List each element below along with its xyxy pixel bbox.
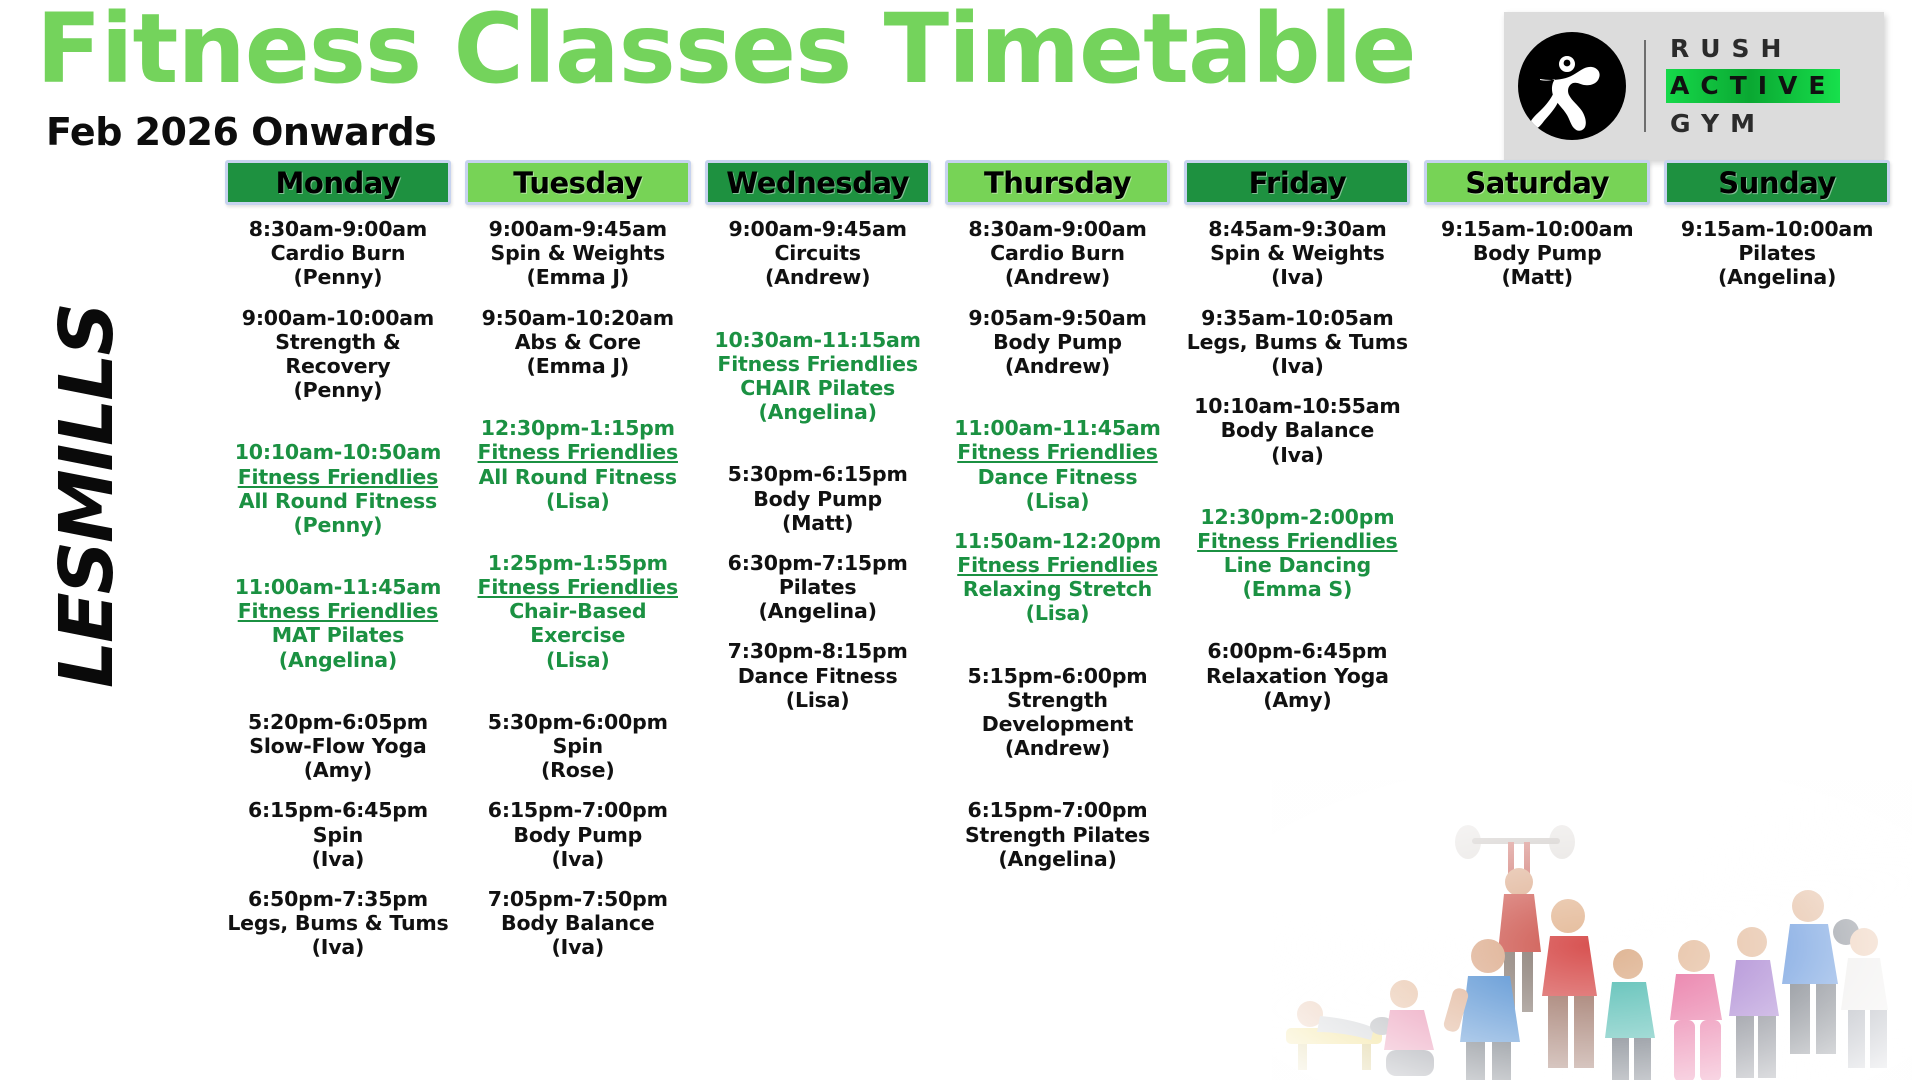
class-name: Body Balance <box>1184 418 1410 442</box>
class-slot[interactable]: 6:50pm-7:35pmLegs, Bums & Tums(Iva) <box>225 887 451 960</box>
class-slot[interactable]: 7:05pm-7:50pmBody Balance(Iva) <box>465 887 691 960</box>
fitness-friendlies-label: Fitness Friendlies <box>945 440 1171 464</box>
class-name: Spin & Weights <box>465 241 691 265</box>
lesmills-brand-logo: LESMILLS <box>44 358 130 688</box>
fitness-friendlies-label: Fitness Friendlies <box>945 553 1171 577</box>
day-column-thursday: Thursday8:30am-9:00amCardio Burn(Andrew)… <box>945 160 1171 976</box>
class-slot[interactable]: 5:20pm-6:05pmSlow-Flow Yoga(Amy) <box>225 710 451 783</box>
class-slot[interactable]: 9:00am-9:45amSpin & Weights(Emma J) <box>465 217 691 290</box>
day-column-monday: Monday8:30am-9:00amCardio Burn(Penny)9:0… <box>225 160 451 976</box>
class-time: 5:20pm-6:05pm <box>225 710 451 734</box>
class-name: Body Pump <box>705 487 931 511</box>
fitness-friendlies-label: Fitness Friendlies <box>225 465 451 489</box>
class-time: 11:00am-11:45am <box>945 416 1171 440</box>
class-instructor: (Emma S) <box>1184 577 1410 601</box>
class-slot[interactable]: 7:30pm-8:15pmDance Fitness(Lisa) <box>705 639 931 712</box>
class-name: Cardio Burn <box>945 241 1171 265</box>
class-time: 8:30am-9:00am <box>225 217 451 241</box>
class-time: 12:30pm-2:00pm <box>1184 505 1410 529</box>
class-name: Body Pump <box>1424 241 1650 265</box>
class-slot[interactable]: 11:00am-11:45amFitness FriendliesDance F… <box>945 416 1171 513</box>
class-instructor: (Andrew) <box>945 736 1171 760</box>
class-slot[interactable]: 1:25pm-1:55pmFitness FriendliesChair-Bas… <box>465 551 691 672</box>
class-slot[interactable]: 9:35am-10:05amLegs, Bums & Tums(Iva) <box>1184 306 1410 379</box>
class-name: Chair-Based Exercise <box>465 599 691 647</box>
class-instructor: (Penny) <box>225 378 451 402</box>
class-name: Body Pump <box>945 330 1171 354</box>
class-slot[interactable]: 8:45am-9:30amSpin & Weights(Iva) <box>1184 217 1410 290</box>
class-name: Dance Fitness <box>945 465 1171 489</box>
class-name: Spin <box>465 734 691 758</box>
class-slot[interactable]: 5:30pm-6:00pmSpin(Rose) <box>465 710 691 783</box>
class-instructor: (Iva) <box>1184 443 1410 467</box>
class-time: 10:30am-11:15am <box>705 328 931 352</box>
class-instructor: (Lisa) <box>465 648 691 672</box>
day-header-tuesday[interactable]: Tuesday <box>465 160 691 205</box>
fitness-friendlies-label: Fitness Friendlies <box>225 599 451 623</box>
class-time: 6:15pm-6:45pm <box>225 798 451 822</box>
class-slot[interactable]: 6:00pm-6:45pmRelaxation Yoga(Amy) <box>1184 639 1410 712</box>
class-slot[interactable]: 12:30pm-1:15pmFitness FriendliesAll Roun… <box>465 416 691 513</box>
class-instructor: (Andrew) <box>705 265 931 289</box>
class-time: 11:50am-12:20pm <box>945 529 1171 553</box>
class-slot[interactable]: 11:00am-11:45amFitness FriendliesMAT Pil… <box>225 575 451 672</box>
class-time: 9:15am-10:00am <box>1664 217 1890 241</box>
class-name: MAT Pilates <box>225 623 451 647</box>
page-title: Fitness Classes Timetable <box>36 0 1416 104</box>
class-instructor: (Angelina) <box>705 599 931 623</box>
logo-line-rush: RUSH <box>1666 32 1840 65</box>
fitness-friendlies-label: Fitness Friendlies <box>705 352 931 376</box>
class-instructor: (Matt) <box>705 511 931 535</box>
day-column-tuesday: Tuesday9:00am-9:45amSpin & Weights(Emma … <box>465 160 691 976</box>
class-time: 9:35am-10:05am <box>1184 306 1410 330</box>
class-time: 11:00am-11:45am <box>225 575 451 599</box>
class-instructor: (Emma J) <box>465 265 691 289</box>
class-name: Pilates <box>1664 241 1890 265</box>
day-header-monday[interactable]: Monday <box>225 160 451 205</box>
class-slot[interactable]: 8:30am-9:00amCardio Burn(Penny) <box>225 217 451 290</box>
day-header-wednesday[interactable]: Wednesday <box>705 160 931 205</box>
class-name: Body Pump <box>465 823 691 847</box>
class-instructor: (Iva) <box>465 847 691 871</box>
day-header-sunday[interactable]: Sunday <box>1664 160 1890 205</box>
class-time: 8:45am-9:30am <box>1184 217 1410 241</box>
class-instructor: (Matt) <box>1424 265 1650 289</box>
class-slot[interactable]: 10:30am-11:15amFitness FriendliesCHAIR P… <box>705 328 931 425</box>
class-time: 12:30pm-1:15pm <box>465 416 691 440</box>
class-instructor: (Andrew) <box>945 265 1171 289</box>
class-time: 5:30pm-6:00pm <box>465 710 691 734</box>
class-name: Pilates <box>705 575 931 599</box>
logo-line-gym: GYM <box>1666 107 1840 140</box>
class-name: All Round Fitness <box>465 465 691 489</box>
class-slot[interactable]: 12:30pm-2:00pmFitness FriendliesLine Dan… <box>1184 505 1410 602</box>
class-slot[interactable]: 10:10am-10:55amBody Balance(Iva) <box>1184 394 1410 467</box>
class-time: 9:15am-10:00am <box>1424 217 1650 241</box>
class-name: Spin <box>225 823 451 847</box>
class-name: Spin & Weights <box>1184 241 1410 265</box>
class-slot[interactable]: 8:30am-9:00amCardio Burn(Andrew) <box>945 217 1171 290</box>
class-instructor: (Andrew) <box>945 354 1171 378</box>
class-instructor: (Penny) <box>225 265 451 289</box>
class-name: Relaxation Yoga <box>1184 664 1410 688</box>
day-column-wednesday: Wednesday9:00am-9:45amCircuits(Andrew)10… <box>705 160 931 976</box>
class-time: 9:00am-9:45am <box>705 217 931 241</box>
class-name: Slow-Flow Yoga <box>225 734 451 758</box>
class-slot[interactable]: 9:50am-10:20amAbs & Core(Emma J) <box>465 306 691 379</box>
class-slot[interactable]: 6:15pm-7:00pmStrength Pilates(Angelina) <box>945 798 1171 871</box>
class-instructor: (Lisa) <box>705 688 931 712</box>
class-instructor: (Iva) <box>225 935 451 959</box>
class-name: Legs, Bums & Tums <box>225 911 451 935</box>
class-time: 5:30pm-6:15pm <box>705 462 931 486</box>
class-name: CHAIR Pilates <box>705 376 931 400</box>
class-name: Strength Development <box>945 688 1171 736</box>
class-time: 6:15pm-7:00pm <box>465 798 691 822</box>
class-slot[interactable]: 9:00am-10:00amStrength & Recovery(Penny) <box>225 306 451 403</box>
class-name: Cardio Burn <box>225 241 451 265</box>
class-instructor: (Penny) <box>225 513 451 537</box>
class-slot[interactable]: 6:15pm-6:45pmSpin(Iva) <box>225 798 451 871</box>
class-name: Legs, Bums & Tums <box>1184 330 1410 354</box>
class-slot[interactable]: 6:30pm-7:15pmPilates(Angelina) <box>705 551 931 624</box>
day-column-saturday: Saturday9:15am-10:00amBody Pump(Matt) <box>1424 160 1650 976</box>
class-slot[interactable]: 9:00am-9:45amCircuits(Andrew) <box>705 217 931 290</box>
class-name: Body Balance <box>465 911 691 935</box>
fitness-friendlies-label: Fitness Friendlies <box>465 440 691 464</box>
class-instructor: (Iva) <box>1184 354 1410 378</box>
class-time: 6:00pm-6:45pm <box>1184 639 1410 663</box>
class-time: 9:00am-10:00am <box>225 306 451 330</box>
logo-wordmark: RUSH ACTIVE GYM <box>1666 32 1840 140</box>
day-column-sunday: Sunday9:15am-10:00amPilates(Angelina) <box>1664 160 1890 976</box>
class-instructor: (Emma J) <box>465 354 691 378</box>
class-slot[interactable]: 10:10am-10:50amFitness FriendliesAll Rou… <box>225 440 451 537</box>
day-header-friday[interactable]: Friday <box>1184 160 1410 205</box>
day-column-friday: Friday8:45am-9:30amSpin & Weights(Iva)9:… <box>1184 160 1410 976</box>
class-time: 9:05am-9:50am <box>945 306 1171 330</box>
class-slot[interactable]: 9:15am-10:00amPilates(Angelina) <box>1664 217 1890 290</box>
class-name: Abs & Core <box>465 330 691 354</box>
class-slot[interactable]: 5:30pm-6:15pmBody Pump(Matt) <box>705 462 931 535</box>
class-time: 7:30pm-8:15pm <box>705 639 931 663</box>
class-instructor: (Angelina) <box>945 847 1171 871</box>
logo-divider <box>1644 40 1646 132</box>
class-instructor: (Rose) <box>465 758 691 782</box>
class-slot[interactable]: 11:50am-12:20pmFitness FriendliesRelaxin… <box>945 529 1171 626</box>
class-time: 6:15pm-7:00pm <box>945 798 1171 822</box>
class-time: 9:50am-10:20am <box>465 306 691 330</box>
logo-line-active: ACTIVE <box>1666 69 1840 102</box>
class-time: 1:25pm-1:55pm <box>465 551 691 575</box>
class-instructor: (Angelina) <box>1664 265 1890 289</box>
class-name: Dance Fitness <box>705 664 931 688</box>
class-name: All Round Fitness <box>225 489 451 513</box>
class-slot[interactable]: 6:15pm-7:00pmBody Pump(Iva) <box>465 798 691 871</box>
class-slot[interactable]: 9:15am-10:00amBody Pump(Matt) <box>1424 217 1650 290</box>
fitness-friendlies-label: Fitness Friendlies <box>465 575 691 599</box>
day-header-thursday[interactable]: Thursday <box>945 160 1171 205</box>
class-instructor: (Angelina) <box>225 648 451 672</box>
class-time: 8:30am-9:00am <box>945 217 1171 241</box>
timetable-grid: Monday8:30am-9:00amCardio Burn(Penny)9:0… <box>225 160 1890 976</box>
class-name: Relaxing Stretch <box>945 577 1171 601</box>
day-header-saturday[interactable]: Saturday <box>1424 160 1650 205</box>
class-time: 7:05pm-7:50pm <box>465 887 691 911</box>
class-name: Circuits <box>705 241 931 265</box>
class-name: Line Dancing <box>1184 553 1410 577</box>
page-subtitle: Feb 2026 Onwards <box>46 110 436 154</box>
class-time: 10:10am-10:55am <box>1184 394 1410 418</box>
class-time: 9:00am-9:45am <box>465 217 691 241</box>
class-name: Strength & Recovery <box>225 330 451 378</box>
class-instructor: (Lisa) <box>945 601 1171 625</box>
rush-active-runner-icon <box>1518 32 1626 140</box>
class-time: 6:30pm-7:15pm <box>705 551 931 575</box>
class-instructor: (Iva) <box>465 935 691 959</box>
class-instructor: (Iva) <box>225 847 451 871</box>
class-instructor: (Angelina) <box>705 400 931 424</box>
class-instructor: (Lisa) <box>945 489 1171 513</box>
class-name: Strength Pilates <box>945 823 1171 847</box>
class-instructor: (Lisa) <box>465 489 691 513</box>
class-time: 10:10am-10:50am <box>225 440 451 464</box>
class-instructor: (Amy) <box>225 758 451 782</box>
gym-logo: RUSH ACTIVE GYM <box>1504 12 1884 160</box>
class-time: 6:50pm-7:35pm <box>225 887 451 911</box>
class-instructor: (Iva) <box>1184 265 1410 289</box>
class-time: 5:15pm-6:00pm <box>945 664 1171 688</box>
class-slot[interactable]: 9:05am-9:50amBody Pump(Andrew) <box>945 306 1171 379</box>
class-instructor: (Amy) <box>1184 688 1410 712</box>
class-slot[interactable]: 5:15pm-6:00pmStrength Development(Andrew… <box>945 664 1171 761</box>
fitness-friendlies-label: Fitness Friendlies <box>1184 529 1410 553</box>
